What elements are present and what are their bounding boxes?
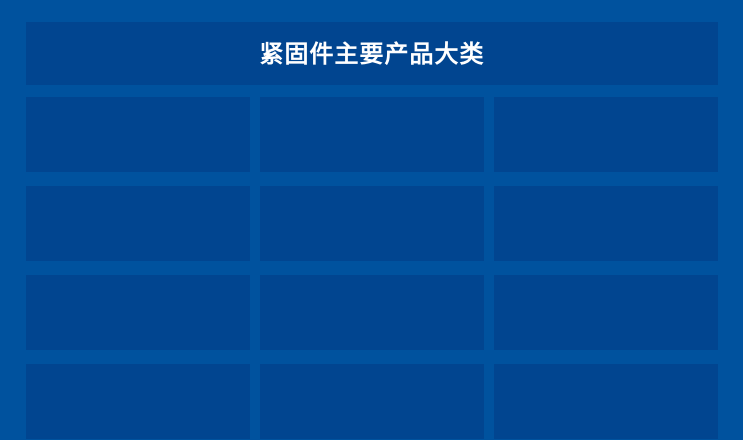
product-card[interactable] xyxy=(260,186,484,261)
product-card[interactable] xyxy=(494,275,718,350)
product-card[interactable] xyxy=(494,97,718,172)
title-banner: 紧固件主要产品大类 xyxy=(26,22,718,85)
product-card[interactable] xyxy=(26,275,250,350)
product-card[interactable] xyxy=(260,97,484,172)
page-title: 紧固件主要产品大类 xyxy=(260,42,485,66)
product-card[interactable] xyxy=(260,275,484,350)
product-card[interactable] xyxy=(26,364,250,439)
product-category-grid xyxy=(26,97,718,439)
product-card[interactable] xyxy=(260,364,484,439)
product-card[interactable] xyxy=(494,364,718,439)
product-card[interactable] xyxy=(26,97,250,172)
product-card[interactable] xyxy=(26,186,250,261)
page-root: 紧固件主要产品大类 xyxy=(0,0,743,440)
product-card[interactable] xyxy=(494,186,718,261)
